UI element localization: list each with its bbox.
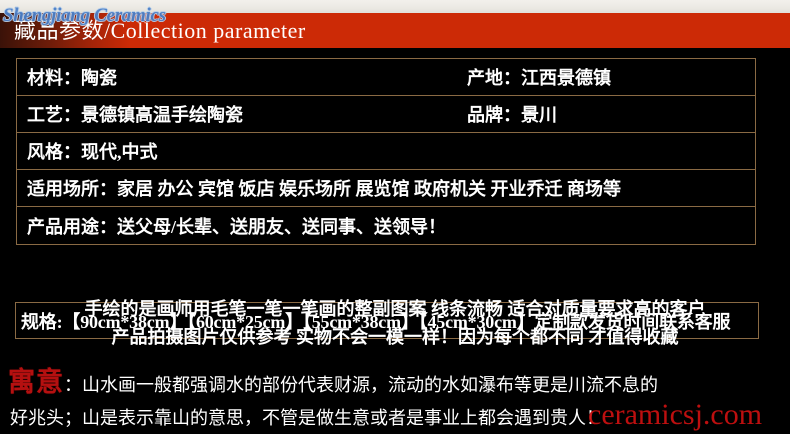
param-material: 材料：陶瓷 <box>17 64 117 90</box>
table-row: 适用场所：家居 办公 宾馆 饭店 娱乐场所 展览馆 政府机关 开业乔迁 商场等 <box>17 170 755 207</box>
param-usage: 产品用途：送父母/长辈、送朋友、送同事、送领导！ <box>17 213 446 239</box>
param-craft: 工艺：景德镇高温手绘陶瓷 <box>17 101 243 127</box>
header-underline <box>0 48 790 51</box>
meaning-block: 寓意：山水画一般都强调水的部份代表财源，流动的水如瀑布等更是川流不息的 好兆头；… <box>8 366 788 434</box>
table-row: 产品用途：送父母/长辈、送朋友、送同事、送领导！ <box>17 207 755 244</box>
table-row: 工艺：景德镇高温手绘陶瓷 品牌：景川 <box>17 96 755 133</box>
top-strip <box>0 0 790 13</box>
description-line-1: 手绘的是画师用毛笔一笔一笔画的整副图案 线条流畅 适合对质量要求高的客户 <box>0 295 790 321</box>
meaning-line-2: 好兆头；山是表示靠山的意思，不管是做生意或者是事业上都会遇到贵人！ <box>8 402 788 434</box>
meaning-line-1: 寓意：山水画一般都强调水的部份代表财源，流动的水如瀑布等更是川流不息的 <box>8 366 788 402</box>
meaning-text-1: 山水画一般都强调水的部份代表财源，流动的水如瀑布等更是川流不息的 <box>82 375 658 395</box>
table-row: 风格：现代,中式 <box>17 133 755 170</box>
table-row: 材料：陶瓷 产地：江西景德镇 <box>17 59 755 96</box>
param-origin: 产地：江西景德镇 <box>467 64 611 90</box>
meaning-colon: ： <box>64 375 82 395</box>
product-parameter-banner: 藏品参数/Collection parameter Shengjiang Cer… <box>0 0 790 434</box>
page-title: 藏品参数/Collection parameter <box>14 13 306 48</box>
param-brand: 品牌：景川 <box>467 101 557 127</box>
description-line-2: 产品拍摄图片仅供参考 实物不会一模一样！因为每个都不同 才值得收藏 <box>0 323 790 349</box>
parameter-table: 材料：陶瓷 产地：江西景德镇 工艺：景德镇高温手绘陶瓷 品牌：景川 风格：现代,… <box>16 58 756 245</box>
param-venues: 适用场所：家居 办公 宾馆 饭店 娱乐场所 展览馆 政府机关 开业乔迁 商场等 <box>17 175 621 201</box>
meaning-label: 寓意 <box>8 367 64 397</box>
param-style: 风格：现代,中式 <box>17 138 158 164</box>
